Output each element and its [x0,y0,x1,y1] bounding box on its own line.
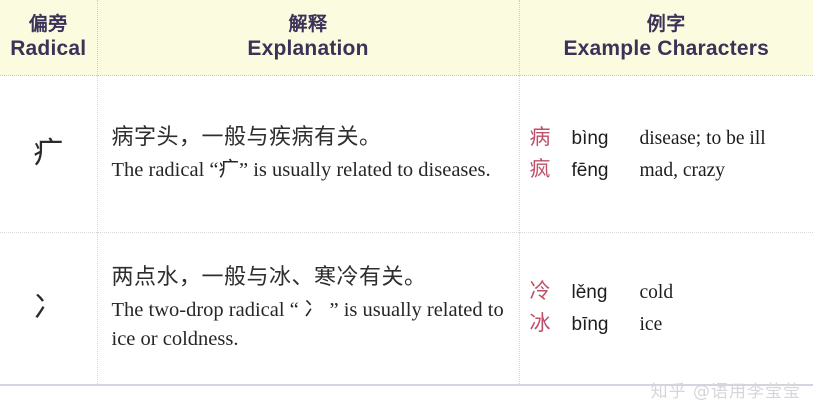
column-header-explanation: 解释 Explanation [97,0,519,75]
column-header-examples-en: Example Characters [520,36,813,62]
explanation-english: The two-drop radical “ 冫 ” is usually re… [112,296,511,354]
column-header-radical: 偏旁 Radical [0,0,97,75]
example-pinyin: lěng [572,278,640,308]
cell-explanation: 病字头，一般与疾病有关。 The radical “疒” is usually … [97,75,519,232]
explanation-english: The radical “疒” is usually related to di… [112,156,511,185]
example-entry: 冷 lěng cold [530,276,813,308]
column-header-examples-zh: 例字 [520,12,813,36]
example-meaning: mad, crazy [640,156,726,186]
example-pinyin: bīng [572,310,640,340]
radical-glyph: 冫 [0,290,97,326]
explanation-block: 病字头，一般与疾病有关。 The radical “疒” is usually … [98,122,519,185]
example-pinyin: fēng [572,156,640,186]
example-meaning: cold [640,278,674,308]
table-row: 冫 两点水，一般与冰、寒冷有关。 The two-drop radical “ … [0,232,813,385]
column-header-radical-en: Radical [0,36,97,62]
example-entry: 病 bìng disease; to be ill [530,122,813,154]
example-meaning: ice [640,310,663,340]
example-character: 疯 [530,154,572,184]
explanation-block: 两点水，一般与冰、寒冷有关。 The two-drop radical “ 冫 … [98,262,519,354]
table-row: 疒 病字头，一般与疾病有关。 The radical “疒” is usuall… [0,75,813,232]
header-row: 偏旁 Radical 解释 Explanation 例字 Example Cha… [0,0,813,75]
example-entry: 冰 bīng ice [530,308,813,340]
radical-reference-table: 偏旁 Radical 解释 Explanation 例字 Example Cha… [0,0,813,386]
example-character: 冷 [530,276,572,306]
cell-explanation: 两点水，一般与冰、寒冷有关。 The two-drop radical “ 冫 … [97,232,519,385]
column-header-explanation-en: Explanation [98,36,519,62]
example-character: 冰 [530,308,572,338]
table-body: 疒 病字头，一般与疾病有关。 The radical “疒” is usuall… [0,75,813,385]
explanation-chinese: 病字头，一般与疾病有关。 [112,122,511,153]
example-meaning: disease; to be ill [640,124,766,154]
examples-block: 病 bìng disease; to be ill 疯 fēng mad, cr… [520,122,813,186]
cell-examples: 冷 lěng cold 冰 bīng ice [519,232,813,385]
radical-glyph: 疒 [0,136,97,172]
column-header-examples: 例字 Example Characters [519,0,813,75]
page-root: 偏旁 Radical 解释 Explanation 例字 Example Cha… [0,0,813,410]
table-header: 偏旁 Radical 解释 Explanation 例字 Example Cha… [0,0,813,75]
column-header-explanation-zh: 解释 [98,12,519,36]
explanation-chinese: 两点水，一般与冰、寒冷有关。 [112,262,511,293]
example-entry: 疯 fēng mad, crazy [530,154,813,186]
column-header-radical-zh: 偏旁 [0,12,97,36]
cell-radical: 疒 [0,75,97,232]
example-pinyin: bìng [572,124,640,154]
examples-block: 冷 lěng cold 冰 bīng ice [520,276,813,340]
example-character: 病 [530,122,572,152]
cell-radical: 冫 [0,232,97,385]
cell-examples: 病 bìng disease; to be ill 疯 fēng mad, cr… [519,75,813,232]
watermark: 知乎 @语用李莹莹 [651,382,801,402]
